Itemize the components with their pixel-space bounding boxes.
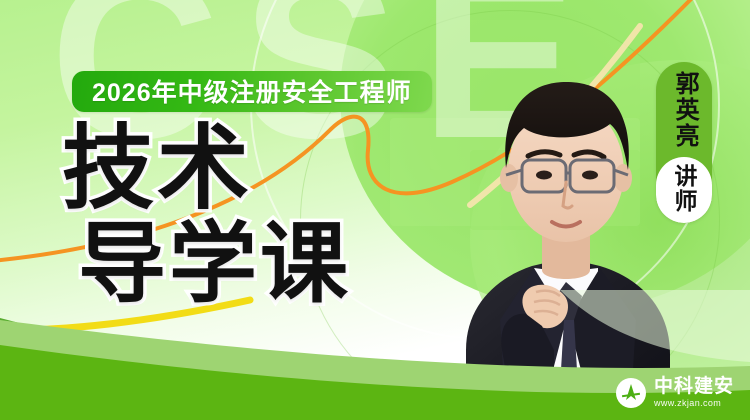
instructor-name-badge: 郭英亮 讲师 bbox=[656, 62, 712, 223]
course-title-banner: 2026年中级注册安全工程师 bbox=[72, 71, 432, 112]
brand-text: 中科建安 www.zkjan.com bbox=[654, 377, 734, 408]
brand-name: 中科建安 bbox=[654, 377, 734, 396]
instructor-role: 讲师 bbox=[667, 164, 701, 214]
brand-url: www.zkjan.com bbox=[654, 399, 734, 408]
headline-block: 技术 导学课 bbox=[62, 123, 351, 309]
headline-line-1: 技术 bbox=[62, 123, 351, 217]
brand-logo: 中科建安 www.zkjan.com bbox=[616, 377, 734, 408]
mountain-peak-logo-icon bbox=[616, 378, 646, 408]
instructor-role-pill: 讲师 bbox=[656, 157, 712, 223]
course-poster: CSE bbox=[0, 0, 750, 420]
banner-label: 2026年中级注册安全工程师 bbox=[92, 73, 412, 109]
instructor-name: 郭英亮 bbox=[670, 71, 698, 157]
